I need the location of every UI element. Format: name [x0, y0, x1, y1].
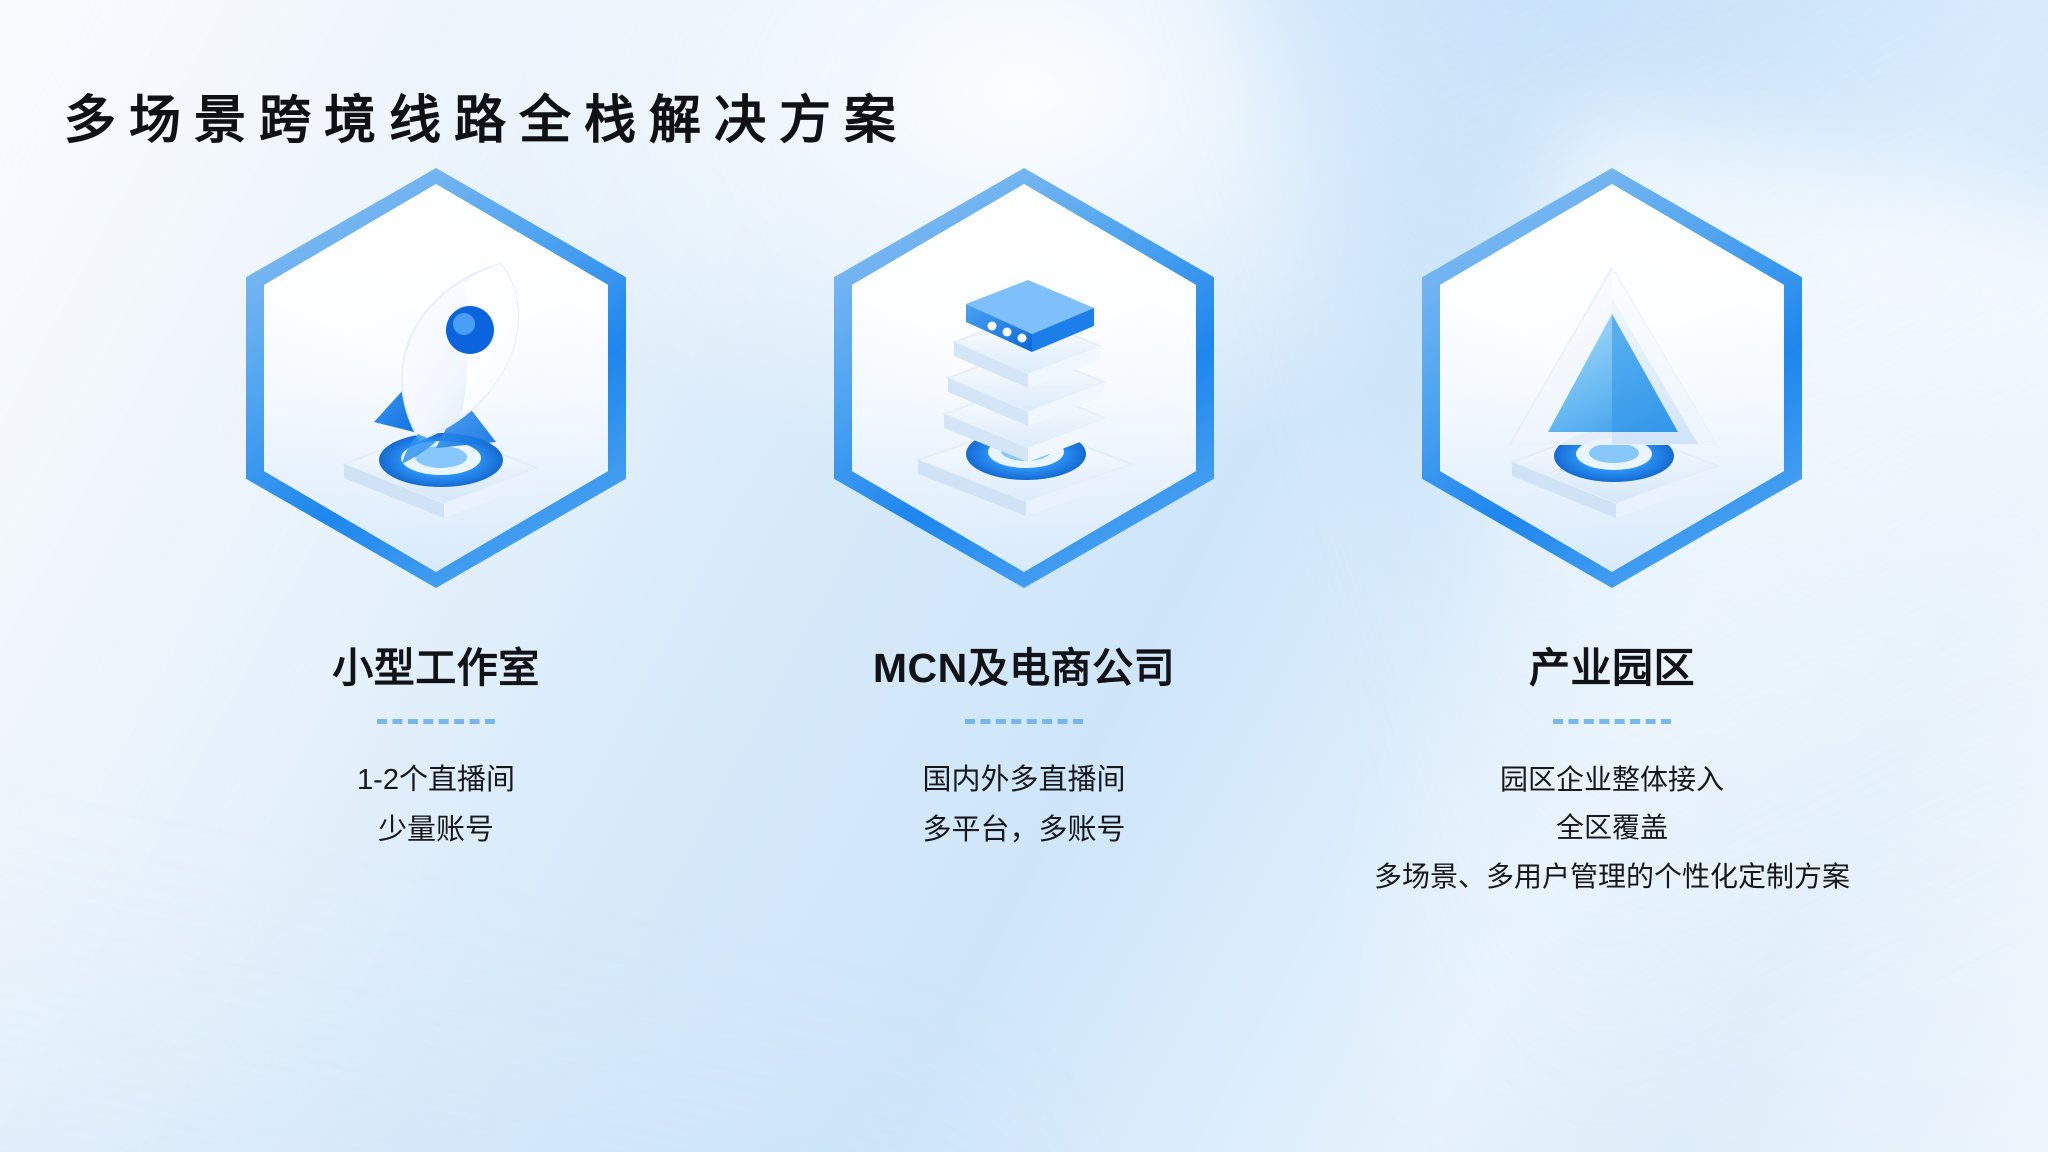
card-description-line: 多场景、多用户管理的个性化定制方案 [1374, 853, 1850, 901]
card-title: 产业园区 [1529, 644, 1695, 693]
pyramid-icon [1462, 228, 1762, 528]
slide-root: 多场景跨境线路全栈解决方案 [0, 0, 2048, 1152]
scenario-card: 小型工作室 1-2个直播间 少量账号 [201, 168, 671, 901]
page-title: 多场景跨境线路全栈解决方案 [64, 91, 909, 151]
hexagon-badge [834, 168, 1214, 588]
card-title: 小型工作室 [332, 644, 540, 693]
rocket-icon [286, 228, 586, 528]
hexagon-badge [1422, 168, 1802, 588]
scenario-card: MCN及电商公司 国内外多直播间 多平台，多账号 [789, 168, 1259, 901]
server-stack-icon [874, 228, 1174, 528]
scenario-card-list: 小型工作室 1-2个直播间 少量账号 [0, 168, 2048, 901]
card-description-line: 1-2个直播间 [357, 756, 515, 806]
dashed-divider [377, 719, 495, 724]
card-description-line: 多平台，多账号 [922, 806, 1125, 856]
card-title: MCN及电商公司 [873, 644, 1175, 693]
card-description: 园区企业整体接入 全区覆盖 多场景、多用户管理的个性化定制方案 [1374, 756, 1850, 900]
card-description-line: 全区覆盖 [1374, 804, 1850, 852]
card-description-line: 园区企业整体接入 [1374, 756, 1850, 804]
card-description: 1-2个直播间 少量账号 [357, 756, 515, 856]
dashed-divider [965, 719, 1083, 724]
hexagon-badge [246, 168, 626, 588]
card-description-line: 国内外多直播间 [922, 756, 1125, 806]
scenario-card: 产业园区 园区企业整体接入 全区覆盖 多场景、多用户管理的个性化定制方案 [1377, 168, 1847, 901]
card-description: 国内外多直播间 多平台，多账号 [922, 756, 1125, 856]
dashed-divider [1553, 719, 1671, 724]
card-description-line: 少量账号 [357, 806, 515, 856]
